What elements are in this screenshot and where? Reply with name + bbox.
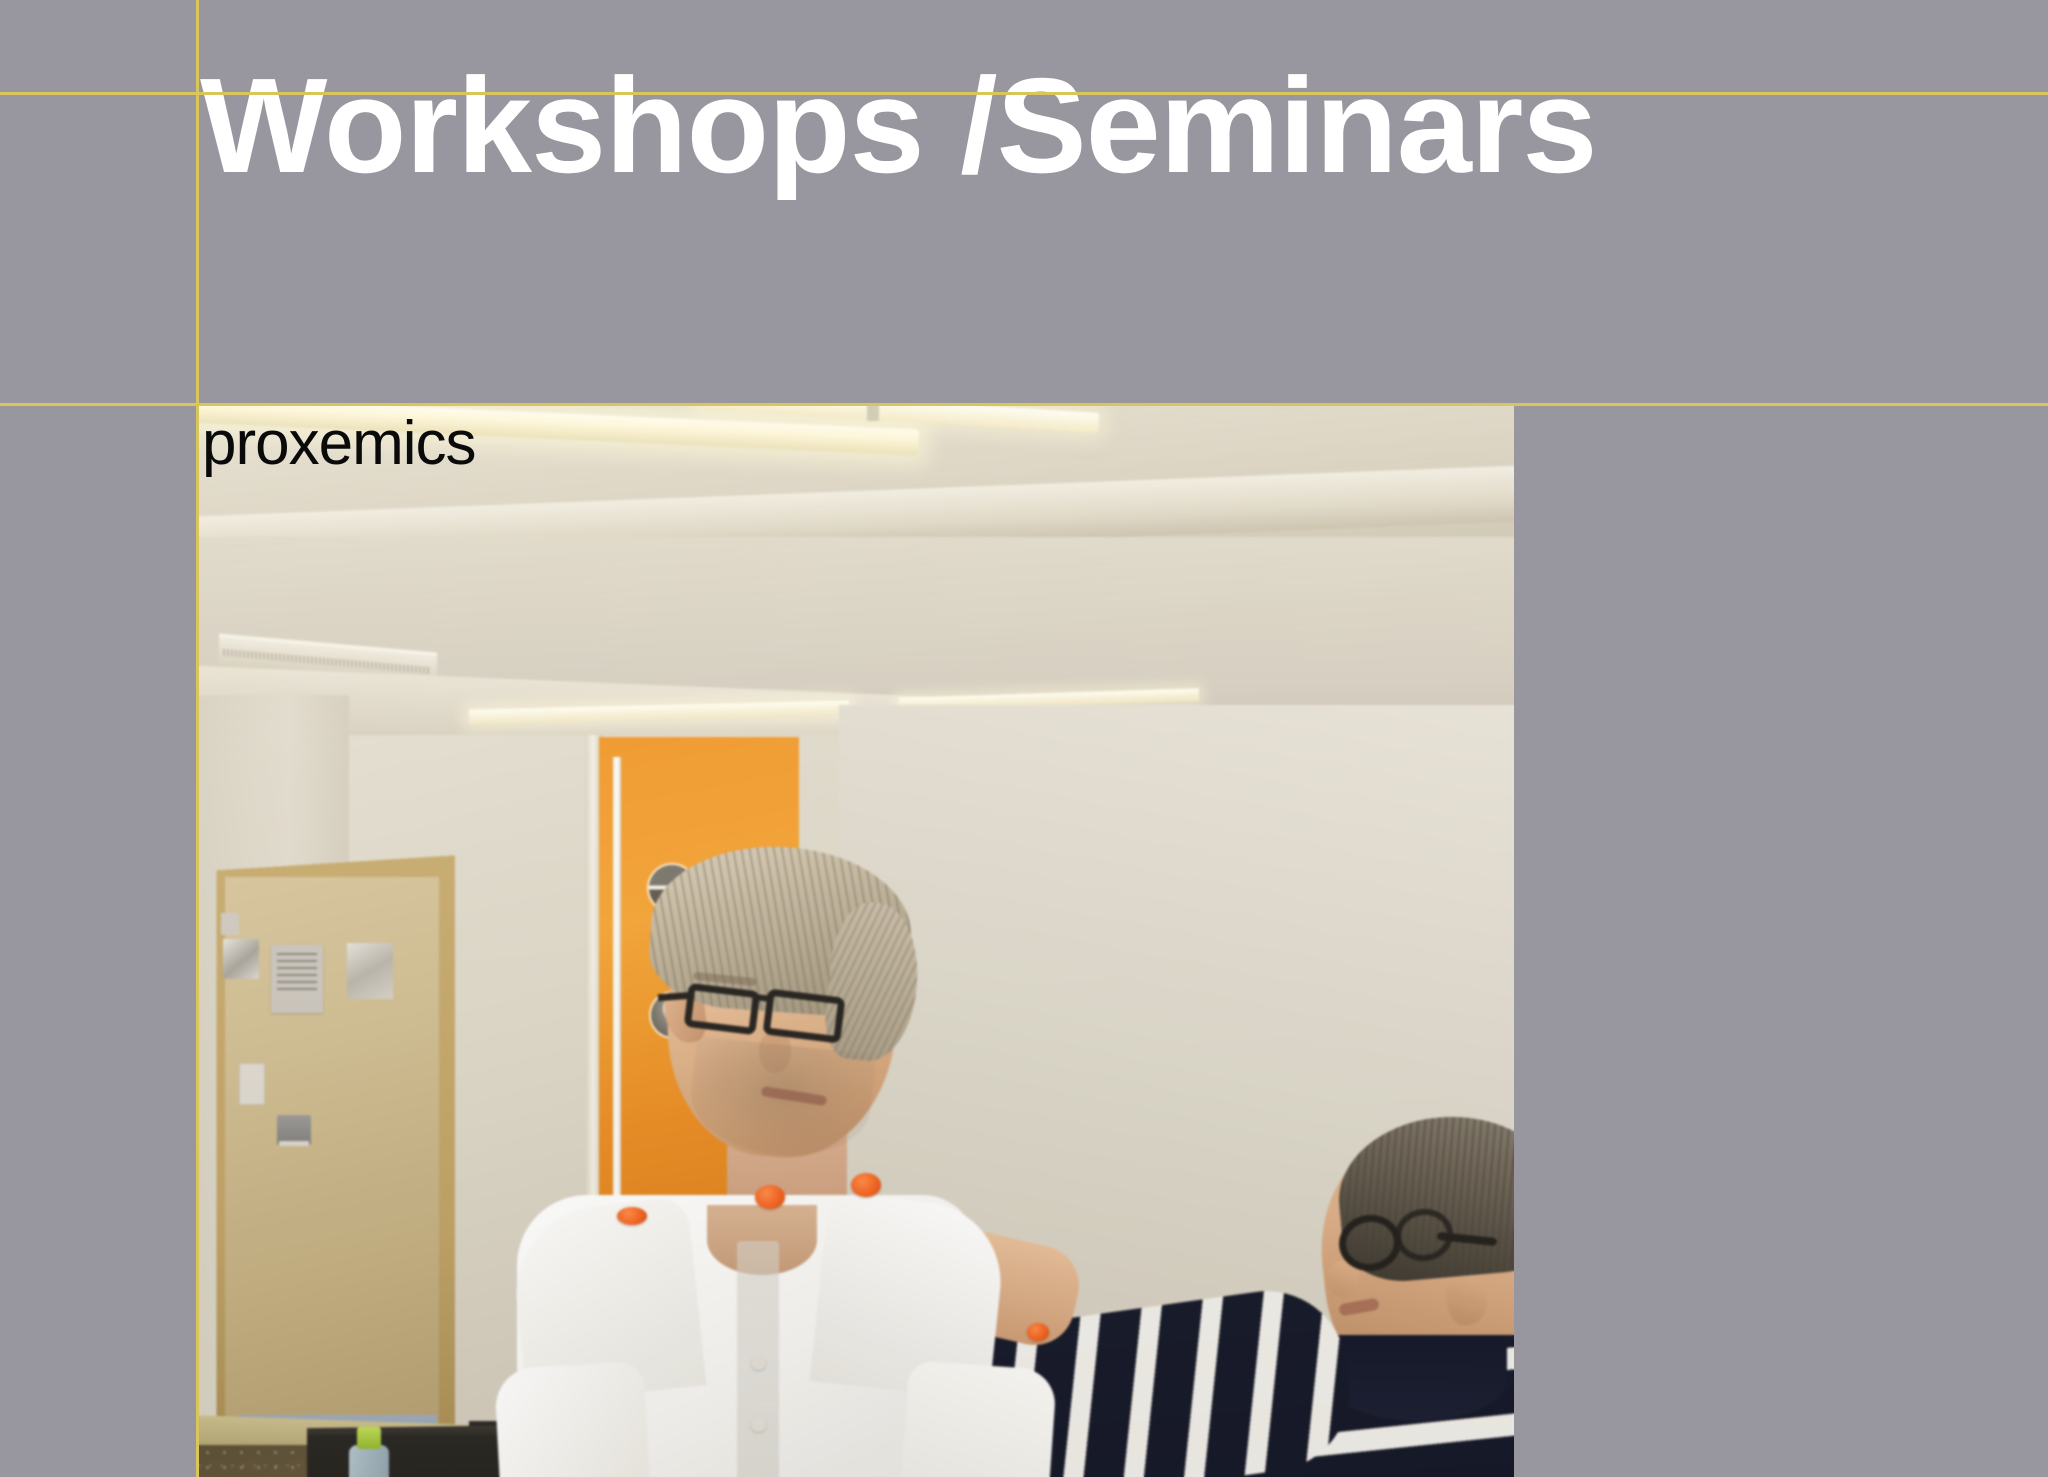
orange-marker-neck [755,1185,785,1209]
posted-notice-text-lines [277,953,317,993]
wall-sticker-lower [223,939,259,979]
participant-left-glasses-right-lens [762,988,845,1043]
wall-sticker-upper [221,913,239,935]
light-switch [239,1063,265,1105]
light-hanger [867,405,879,421]
participant-right-sweater-neckline [1327,1335,1507,1421]
door-handle-bar [279,1141,309,1146]
water-bottle [349,1445,389,1477]
participant-left-shirt-button-lower [751,1417,766,1432]
left-margin-guide [196,0,199,1477]
posted-photo-sheet [347,943,393,999]
water-bottle-cap [357,1427,381,1449]
orange-marker-arm [1027,1323,1049,1341]
orange-marker-shoulder-r [851,1173,881,1197]
participant-left-arm-right [889,1360,1058,1477]
participant-left-shirt-button-upper [751,1355,766,1370]
slide-subtitle: proxemics [202,413,476,475]
presentation-slide: Workshops /Seminars proxemics [0,0,2048,1477]
title-top-guide [0,92,2048,95]
orange-marker-shoulder-l [617,1207,647,1225]
proxemics-workshop-photo [199,405,1514,1477]
content-top-guide [0,403,2048,406]
participant-left-glasses-left-lens [684,983,761,1035]
page-title: Workshops /Seminars [200,58,1596,193]
participant-left-arm-left [494,1361,666,1477]
